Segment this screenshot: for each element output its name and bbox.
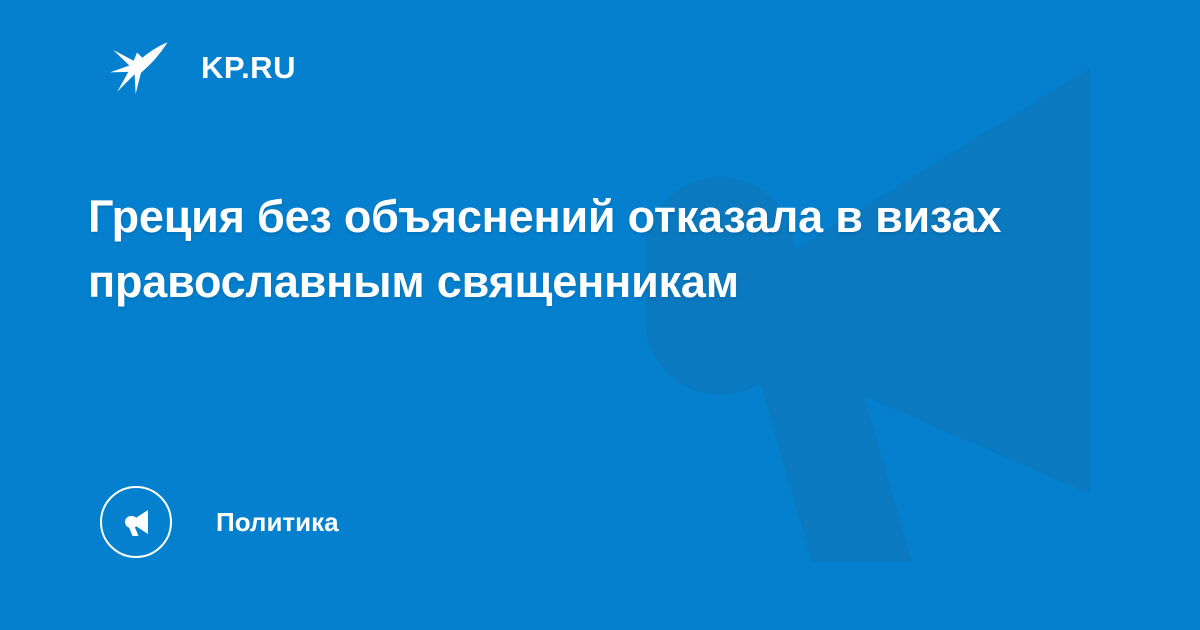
page-title: Греция без объяснений отказала в визах п… xyxy=(88,185,1078,315)
megaphone-icon xyxy=(100,486,172,558)
category-badge[interactable]: Политика xyxy=(100,486,339,558)
category-label: Политика xyxy=(216,509,339,535)
share-card: KP.RU Греция без объяснений отказала в в… xyxy=(0,0,1200,630)
brand-header[interactable]: KP.RU xyxy=(108,34,296,100)
brand-name: KP.RU xyxy=(201,52,296,83)
swallow-bird-logo-icon xyxy=(108,36,170,98)
